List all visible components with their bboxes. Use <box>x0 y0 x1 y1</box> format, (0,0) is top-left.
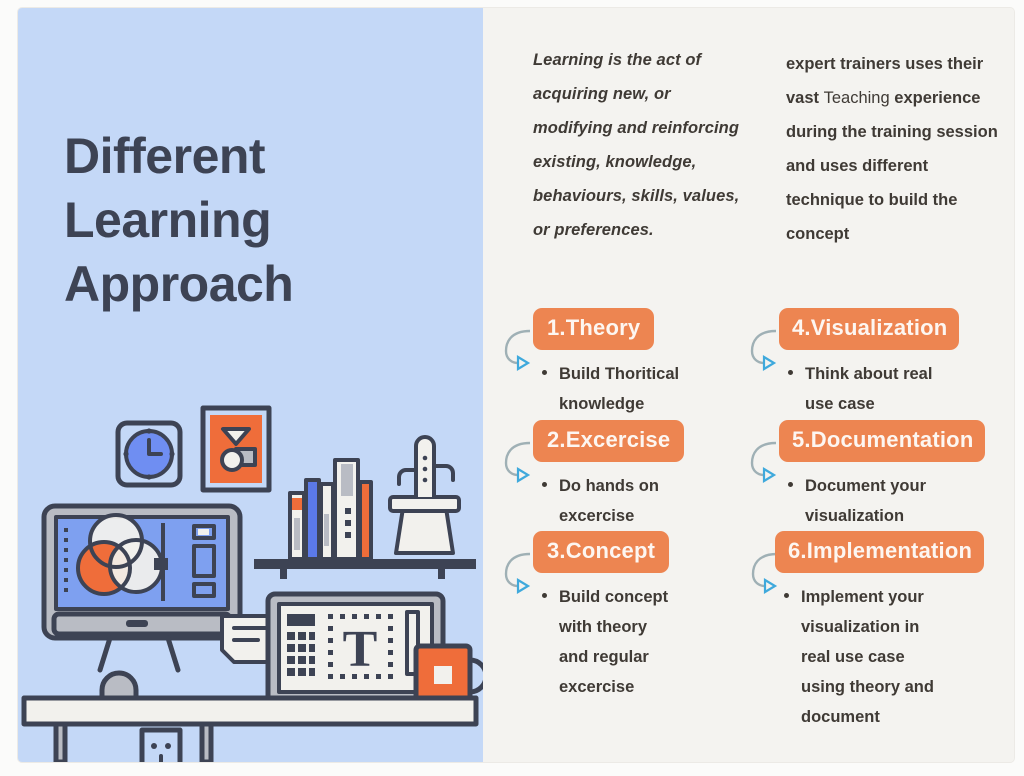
page-title: Different Learning Approach <box>64 124 464 316</box>
step-1-bullets: Build Thoritical knowledge <box>533 359 761 419</box>
list-item: Build Thoritical knowledge <box>533 359 761 419</box>
step-5[interactable]: 5.Documentation Document your visualizat… <box>779 420 1014 531</box>
step-3[interactable]: 3.Concept Build concept with theory and … <box>533 531 761 702</box>
step-4-card[interactable]: 4.Visualization <box>779 308 959 350</box>
step-6-bullets: Implement your visualization in real use… <box>775 582 1014 732</box>
desktop-monitor-icon <box>44 506 240 670</box>
teaching-word: Teaching <box>824 89 890 107</box>
svg-text:T: T <box>343 621 378 678</box>
step-6[interactable]: 6.Implementation Implement your visualiz… <box>775 531 1014 732</box>
list-item: Build concept with theory and regular ex… <box>533 582 761 702</box>
intro-left-line-8: preferences. <box>554 221 653 239</box>
content-panel: Learning is the act of acquiring new, or… <box>483 8 1014 762</box>
step-4[interactable]: 4.Visualization Think about real use cas… <box>779 308 1014 419</box>
intro-right-line-6: technique to build the <box>786 191 957 209</box>
step-6-card[interactable]: 6.Implementation <box>775 531 984 573</box>
step-3-bullets: Build concept with theory and regular ex… <box>533 582 761 702</box>
list-item: Document your visualization <box>779 471 1014 531</box>
intro-text-left: Learning is the act of acquiring new, or… <box>533 43 748 248</box>
intro-right-line-1: expert trainers <box>786 55 901 73</box>
step-2-card[interactable]: 2.Excercise <box>533 420 684 462</box>
title-line-1: Different <box>64 124 464 188</box>
step-1-card[interactable]: 1.Theory <box>533 308 654 350</box>
power-outlet-icon <box>142 730 180 762</box>
step-1[interactable]: 1.Theory Build Thoritical knowledge <box>533 308 761 419</box>
step-4-bullets: Think about real use case <box>779 359 1014 419</box>
steps-column-left: Learning is the act of acquiring new, or… <box>503 8 761 762</box>
step-2[interactable]: 2.Excercise Do hands on excercise <box>533 420 761 531</box>
intro-right-line-7: concept <box>786 225 849 243</box>
hero-panel: Different Learning Approach <box>18 8 483 762</box>
infographic-canvas: Different Learning Approach <box>18 8 1014 762</box>
step-5-card[interactable]: 5.Documentation <box>779 420 985 462</box>
list-item: Do hands on excercise <box>533 471 761 531</box>
intro-left-line-1: Learning is the act <box>533 51 681 69</box>
intro-right-line-5: uses different <box>820 157 928 175</box>
framed-poster-icon <box>203 408 269 490</box>
intro-left-line-4: and reinforcing <box>617 119 739 137</box>
intro-left-line-5: existing, knowledge, <box>533 153 696 171</box>
title-line-2: Learning <box>64 188 464 252</box>
step-3-card[interactable]: 3.Concept <box>533 531 669 573</box>
list-item: Think about real use case <box>779 359 1014 419</box>
step-5-bullets: Document your visualization <box>779 471 1014 531</box>
step-2-bullets: Do hands on excercise <box>533 471 761 531</box>
desk-workspace-illustration: T <box>18 398 483 762</box>
desk-icon <box>24 698 476 762</box>
wall-clock-icon <box>118 423 180 485</box>
image-frame: Different Learning Approach <box>0 0 1024 776</box>
list-item: Implement your visualization in real use… <box>775 582 1014 732</box>
intro-text-right: expert trainers uses their vast Teaching… <box>786 47 1008 252</box>
intro-left-line-6: behaviours, skills, <box>533 187 678 205</box>
title-line-3: Approach <box>64 252 464 316</box>
steps-column-right: expert trainers uses their vast Teaching… <box>751 8 1013 762</box>
